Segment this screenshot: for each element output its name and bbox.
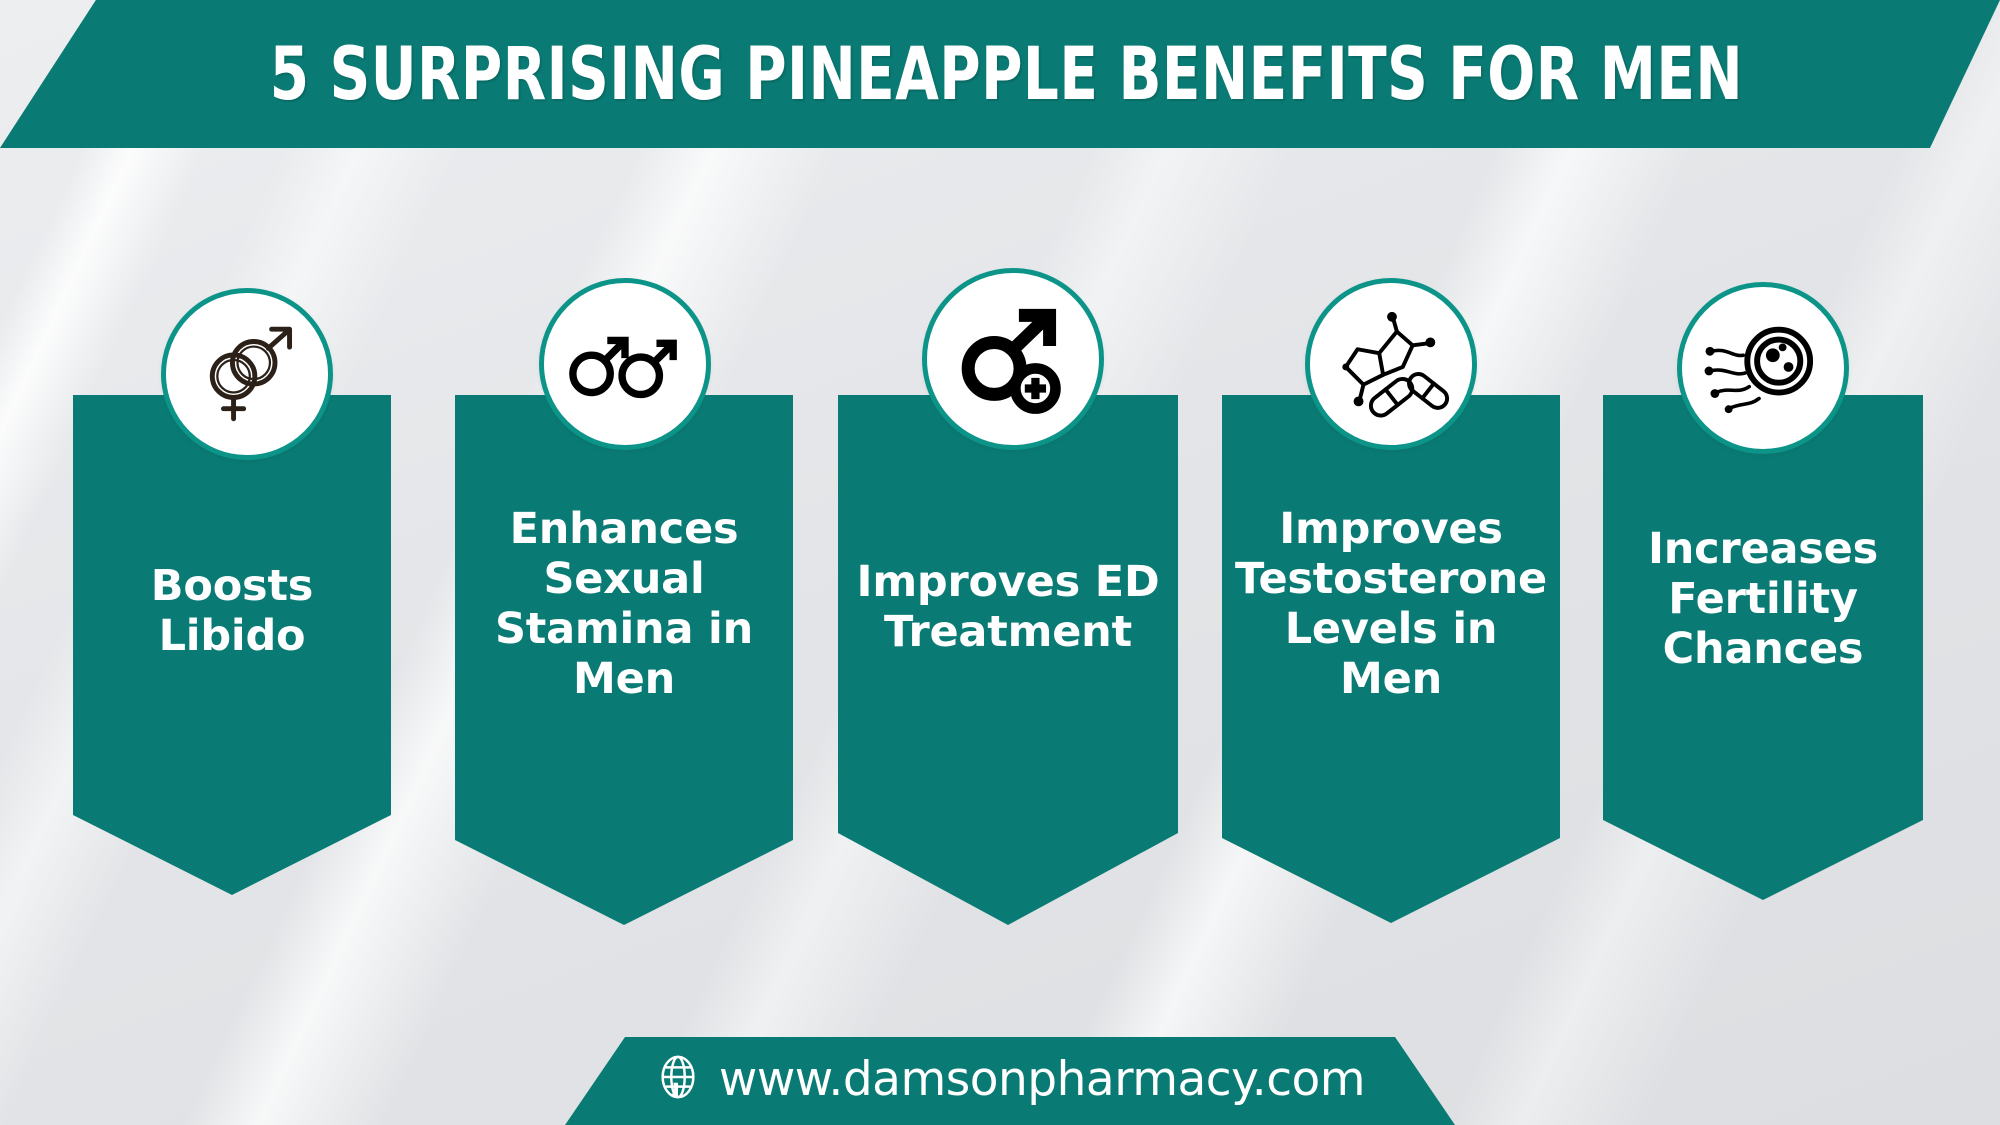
globe-icon <box>655 1054 701 1105</box>
page-title: 5 SURPRISING PINEAPPLE BENEFITS FOR MEN <box>256 32 1743 117</box>
benefit-card-1-label: Boosts Libido <box>73 562 391 662</box>
benefit-card-2-label-line-3: Stamina in <box>455 605 793 655</box>
benefit-card-1-label-line-2: Libido <box>73 612 391 662</box>
benefit-card-2-label-line-2: Sexual <box>455 555 793 605</box>
benefit-card-4-label-line-4: Men <box>1222 655 1560 705</box>
footer: www.damsonpharmacy.com <box>0 1020 2000 1125</box>
benefit-card-4-icon-circle <box>1305 278 1477 450</box>
footer-banner-shape: www.damsonpharmacy.com <box>565 1037 1455 1125</box>
benefit-card-5-icon-circle <box>1677 282 1849 454</box>
benefit-card-5-label: Increases Fertility Chances <box>1603 525 1923 675</box>
testosterone-molecule-with-pills-icon <box>1332 309 1450 419</box>
benefit-card-5-label-line-2: Fertility <box>1603 575 1923 625</box>
benefit-card-3-body <box>838 395 1178 925</box>
header-banner: 5 SURPRISING PINEAPPLE BENEFITS FOR MEN <box>0 0 2000 148</box>
benefit-card-4-label-line-2: Testosterone <box>1222 555 1560 605</box>
benefit-card-3-icon-circle <box>922 268 1104 450</box>
benefit-card-1-label-line-1: Boosts <box>73 562 391 612</box>
benefit-card-2-label-line-1: Enhances <box>455 505 793 555</box>
benefit-card-3-label-line-1: Improves ED <box>838 558 1178 608</box>
benefit-card-1-icon-circle <box>161 288 333 460</box>
benefit-card-5-label-line-3: Chances <box>1603 625 1923 675</box>
benefits-card-row: Boosts Libido Enhances Sexual Stamina in <box>0 330 2000 930</box>
double-male-symbols-icon <box>566 314 684 414</box>
benefit-card-2-label: Enhances Sexual Stamina in Men <box>455 505 793 705</box>
male-symbol-with-medical-plus-icon <box>954 300 1072 418</box>
benefit-card-2-icon-circle <box>539 278 711 450</box>
benefit-card-3-label: Improves ED Treatment <box>838 558 1178 658</box>
benefit-card-4-label: Improves Testosterone Levels in Men <box>1222 505 1560 705</box>
benefit-card-3-label-line-2: Treatment <box>838 608 1178 658</box>
benefit-card-4-label-line-3: Levels in <box>1222 605 1560 655</box>
benefit-card-5-label-line-1: Increases <box>1603 525 1923 575</box>
benefit-card-4-label-line-1: Improves <box>1222 505 1560 555</box>
male-female-interlocking-symbols-icon <box>191 318 303 430</box>
website-url[interactable]: www.damsonpharmacy.com <box>719 1052 1365 1107</box>
benefit-card-2-label-line-4: Men <box>455 655 793 705</box>
sperm-and-egg-fertility-icon <box>1704 314 1822 422</box>
